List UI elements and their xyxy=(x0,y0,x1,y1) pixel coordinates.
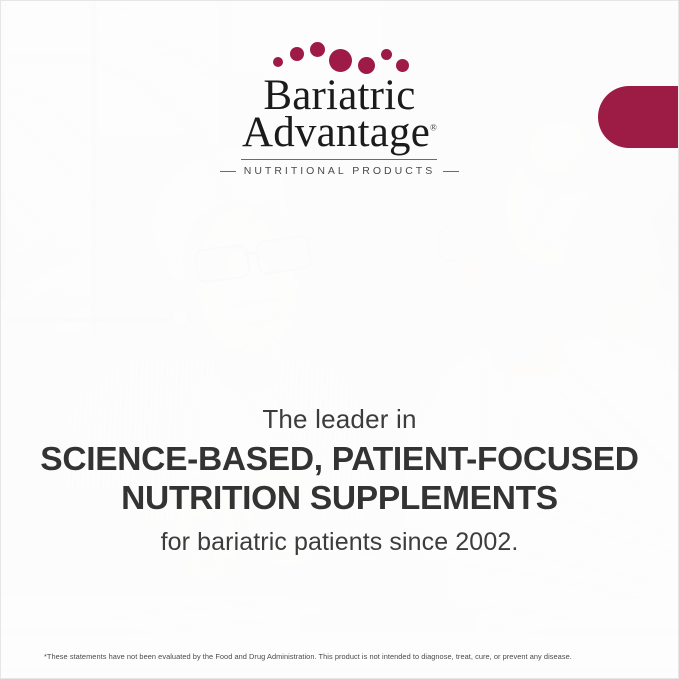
logo-line-2: Advantage® xyxy=(220,111,459,154)
logo-dot-2 xyxy=(290,47,304,61)
logo-dot-4 xyxy=(329,49,352,72)
logo-dot-3 xyxy=(310,42,325,57)
logo-wordmark: Bariatric Advantage® NUTRITIONAL PRODUCT… xyxy=(220,74,459,177)
headline-subline: for bariatric patients since 2002. xyxy=(0,527,679,557)
logo-tagline-row: NUTRITIONAL PRODUCTS xyxy=(220,166,459,177)
logo-tagline-rule-right xyxy=(443,171,459,172)
logo-dot-6 xyxy=(381,49,392,60)
logo-tagline-rule-left xyxy=(220,171,236,172)
logo-tagline: NUTRITIONAL PRODUCTS xyxy=(244,166,435,177)
logo-dot-5 xyxy=(358,57,375,74)
marketing-banner: Bariatric Advantage® NUTRITIONAL PRODUCT… xyxy=(0,0,679,679)
headline-kicker: The leader in xyxy=(0,404,679,435)
headline-block: The leader in SCIENCE-BASED, PATIENT-FOC… xyxy=(0,404,679,557)
fda-disclaimer: *These statements have not been evaluate… xyxy=(44,652,639,662)
registered-trademark-icon: ® xyxy=(430,123,437,133)
logo-dot-1 xyxy=(273,57,283,67)
headline-line-1: SCIENCE-BASED, PATIENT-FOCUSED xyxy=(0,441,679,480)
brand-logo: Bariatric Advantage® NUTRITIONAL PRODUCT… xyxy=(0,40,679,177)
logo-dot-7 xyxy=(396,59,409,72)
logo-divider-rule xyxy=(241,159,437,160)
headline-line-2: NUTRITION SUPPLEMENTS xyxy=(0,480,679,519)
logo-line-2-text: Advantage xyxy=(242,109,430,156)
